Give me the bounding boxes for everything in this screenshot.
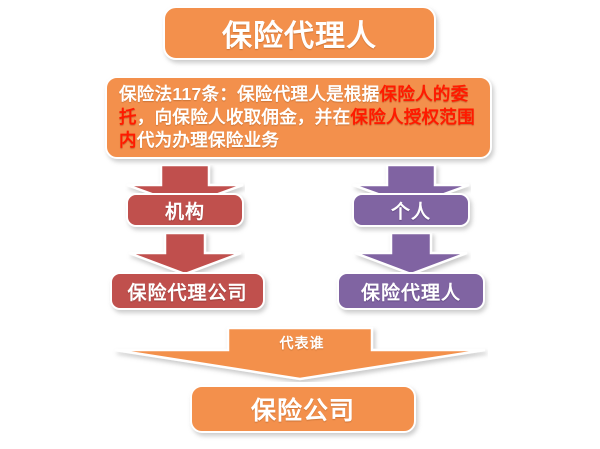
result-label-insurance-agent: 保险代理人	[361, 278, 461, 305]
merge-arrow-to-insurer	[112, 326, 488, 382]
result-box-insurance-agent: 保险代理人	[337, 272, 485, 310]
branch-label-organization: 机构	[165, 197, 205, 224]
result-box-agency-company: 保险代理公司	[110, 272, 265, 310]
result-label-agency-company: 保险代理公司	[127, 278, 247, 305]
law-description-box: 保险法117条：保险代理人是根据保险人的委托，向保险人收取佣金，并在保险人授权范…	[105, 76, 492, 159]
law-text-segment-2: ，向保险人收取佣金，并在	[137, 107, 351, 127]
arrow-down-to-agency-company	[125, 233, 245, 275]
arrow-down-to-insurance-agent	[351, 233, 471, 275]
final-box-insurance-company: 保险公司	[190, 385, 416, 433]
law-description-text: 保险法117条：保险代理人是根据保险人的委托，向保险人收取佣金，并在保险人授权范…	[119, 83, 478, 152]
law-text-segment-0: 保险法117条：保险代理人是根据	[119, 84, 380, 104]
diagram-title-text: 保险代理人	[222, 11, 377, 55]
diagram-canvas: 保险代理人 保险法117条：保险代理人是根据保险人的委托，向保险人收取佣金，并在…	[0, 0, 600, 449]
branch-label-individual: 个人	[391, 197, 431, 224]
branch-box-individual: 个人	[352, 193, 470, 227]
law-text-segment-4: 代为办理保险业务	[137, 130, 279, 150]
diagram-title-box: 保险代理人	[163, 6, 436, 60]
final-label-insurance-company: 保险公司	[251, 391, 355, 427]
branch-box-organization: 机构	[126, 193, 244, 227]
